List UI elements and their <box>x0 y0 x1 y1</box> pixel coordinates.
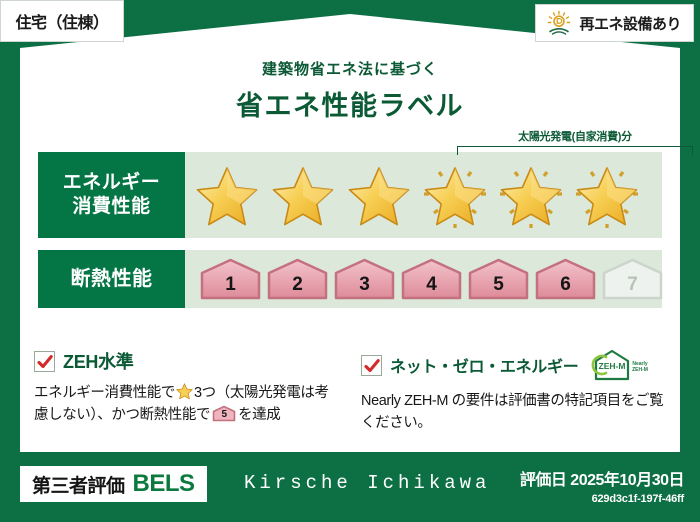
insulation-grade-6: 6 <box>534 257 597 301</box>
energy-star-1 <box>189 158 265 232</box>
zeh-standard-title: ZEH水準 <box>63 348 134 374</box>
zeh-standard-text-part3: を達成 <box>238 407 280 423</box>
bels-certification-box: 第三者評価 BELS <box>20 466 207 502</box>
insulation-performance-row: 断熱性能 1 2 <box>38 250 662 308</box>
net-zero-energy-column: ネット・ゼロ・エネルギー ZEH-M Nearly ZEH-M Nearly Z… <box>361 348 666 435</box>
label-title-block: 建築物省エネ法に基づく 省エネ性能ラベル <box>0 58 700 123</box>
label-main-title: 省エネ性能ラベル <box>0 84 700 123</box>
bels-en-text: BELS <box>133 470 195 498</box>
zeh-standard-description: エネルギー消費性能で3つ（太陽光発電は考慮しない）、かつ断熱性能で5を達成 <box>34 382 339 427</box>
insulation-grade-1-value: 1 <box>225 274 236 296</box>
insulation-grades-container: 1 2 3 4 <box>185 250 664 308</box>
insulation-grade-3-value: 3 <box>359 274 370 296</box>
bels-jp-text: 第三者評価 <box>32 471 125 498</box>
svg-text:ZEH-M: ZEH-M <box>632 367 648 373</box>
zeh-standard-text-part1: エネルギー消費性能で <box>34 385 175 401</box>
energy-star-3 <box>341 158 417 232</box>
insulation-grade-5: 5 <box>467 257 530 301</box>
energy-performance-label: 住宅（住棟） 再エネ設備あり 建築 <box>0 0 700 522</box>
label-footer-bar: 第三者評価 BELS Kirsche Ichikawa 評価日 2025年10月… <box>0 454 700 522</box>
energy-performance-row: エネルギー 消費性能 太陽光発電(自家消費)分 <box>38 152 662 238</box>
solar-annotation-bracket <box>457 146 693 155</box>
insulation-grade-7: 7 <box>601 257 664 301</box>
renewable-equipment-badge: 再エネ設備あり <box>535 4 694 42</box>
energy-label-line2: 消費性能 <box>72 195 150 219</box>
solar-generation-annotation: 太陽光発電(自家消費)分 <box>457 128 693 155</box>
performance-rows: エネルギー 消費性能 太陽光発電(自家消費)分 <box>38 152 662 320</box>
zeh-standard-header: ZEH水準 <box>34 348 339 374</box>
star-icon <box>176 383 193 400</box>
zeh-m-nearly-zeh-logo-icon: ZEH-M Nearly ZEH-M <box>586 348 652 382</box>
insulation-performance-label-box: 断熱性能 <box>38 250 185 308</box>
zeh-section: ZEH水準 エネルギー消費性能で3つ（太陽光発電は考慮しない）、かつ断熱性能で5… <box>34 348 666 435</box>
insulation-grade-2-value: 2 <box>292 274 303 296</box>
solar-annotation-text: 太陽光発電(自家消費)分 <box>457 128 693 144</box>
project-name: Kirsche Ichikawa <box>244 472 490 494</box>
insulation-grade-4: 4 <box>400 257 463 301</box>
building-type-text: 住宅（住棟） <box>15 9 108 33</box>
energy-star-2 <box>265 158 341 232</box>
zeh-standard-column: ZEH水準 エネルギー消費性能で3つ（太陽光発電は考慮しない）、かつ断熱性能で5… <box>34 348 339 435</box>
insulation-grade-7-value: 7 <box>627 274 638 296</box>
house-grade-5-value: 5 <box>212 405 236 422</box>
insulation-grade-6-value: 6 <box>560 274 571 296</box>
building-type-tab: 住宅（住棟） <box>0 0 124 42</box>
insulation-label-text: 断熱性能 <box>71 267 153 292</box>
label-subtitle: 建築物省エネ法に基づく <box>0 58 700 79</box>
zeh-standard-checkbox[interactable] <box>34 351 55 372</box>
energy-performance-label-box: エネルギー 消費性能 <box>38 152 185 238</box>
net-zero-energy-header: ネット・ゼロ・エネルギー ZEH-M Nearly ZEH-M <box>361 348 666 382</box>
sun-icon <box>546 10 572 36</box>
net-zero-energy-checkbox[interactable] <box>361 355 382 376</box>
energy-stars-container: 太陽光発電(自家消費)分 <box>185 152 662 238</box>
evaluation-date: 評価日 2025年10月30日 <box>520 466 684 490</box>
insulation-grade-2: 2 <box>266 257 329 301</box>
evaluation-id: 629d3c1f-197f-46ff <box>520 493 684 505</box>
svg-text:ZEH-M: ZEH-M <box>599 361 626 371</box>
net-zero-energy-title: ネット・ゼロ・エネルギー <box>390 353 578 377</box>
insulation-grade-1: 1 <box>199 257 262 301</box>
energy-star-4-solar <box>417 158 493 232</box>
check-icon <box>36 353 54 371</box>
insulation-grade-4-value: 4 <box>426 274 437 296</box>
renewable-badge-label: 再エネ設備あり <box>579 13 681 34</box>
energy-label-line1: エネルギー <box>63 171 161 195</box>
energy-star-5-solar <box>493 158 569 232</box>
net-zero-energy-description: Nearly ZEH-M の要件は評価書の特記項目をご覧ください。 <box>361 390 666 435</box>
insulation-grade-3: 3 <box>333 257 396 301</box>
check-icon <box>363 357 381 375</box>
evaluation-info: 評価日 2025年10月30日 629d3c1f-197f-46ff <box>520 466 684 505</box>
energy-star-6-solar <box>569 158 645 232</box>
insulation-grade-5-value: 5 <box>493 274 504 296</box>
house-grade-5-icon: 5 <box>212 405 236 422</box>
